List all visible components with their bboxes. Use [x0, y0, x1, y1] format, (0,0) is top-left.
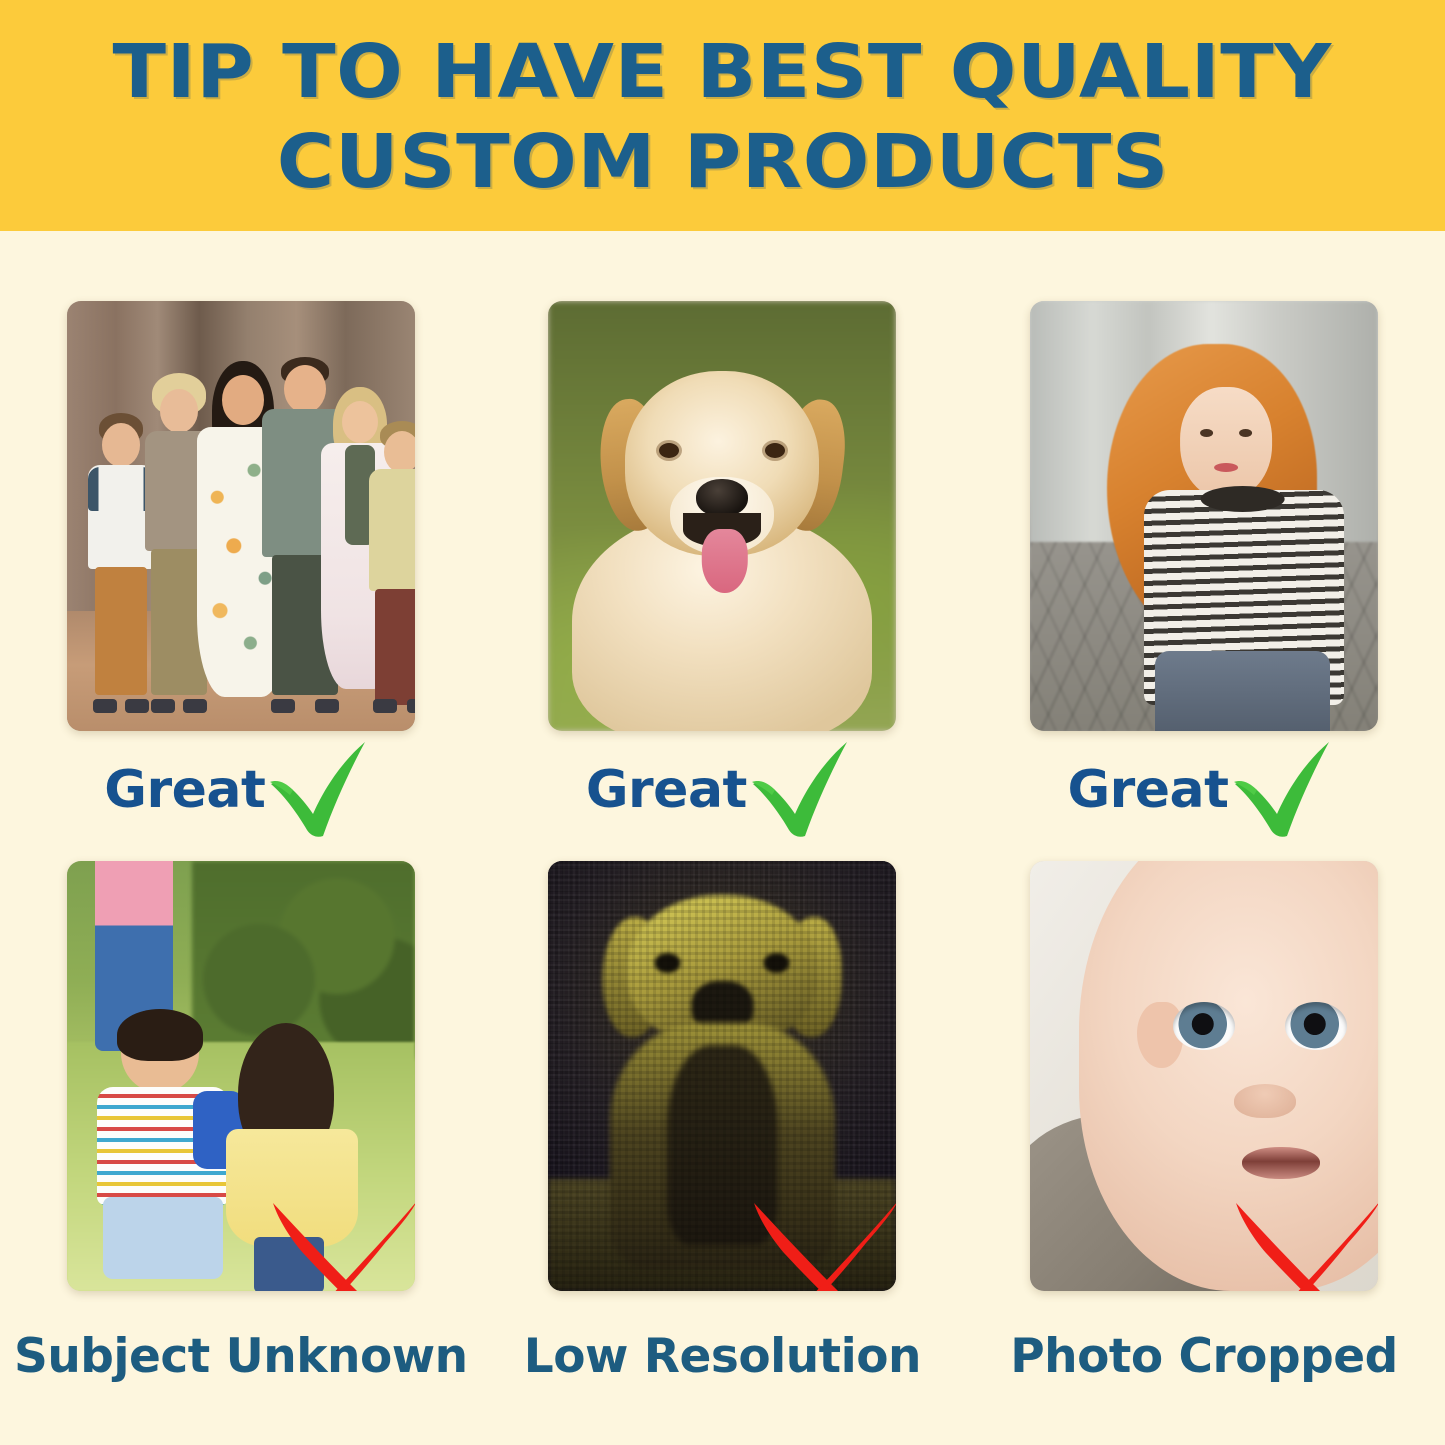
example-card-golden-retriever: Great — [482, 301, 964, 861]
header-banner: TIP TO HAVE BEST QUALITY CUSTOM PRODUCTS — [0, 0, 1445, 231]
check-icon — [1229, 740, 1341, 840]
caption-red-haired-woman: Great — [989, 747, 1419, 833]
check-icon — [747, 740, 859, 840]
caption-family-portrait: Great — [26, 747, 456, 833]
photo-red-haired-woman — [1030, 301, 1378, 731]
photo-kids-playing — [67, 861, 415, 1291]
example-card-kids-playing: Subject Unknown — [0, 861, 482, 1421]
caption-low-res-dog: Low Resolution — [507, 1313, 937, 1399]
label-low-res-dog: Low Resolution — [524, 1329, 921, 1384]
examples-grid: Great — [0, 231, 1445, 1445]
label-family-portrait: Great — [104, 760, 265, 820]
photo-golden-retriever — [548, 301, 896, 731]
check-icon — [265, 740, 377, 840]
example-card-low-res-dog: Low Resolution — [482, 861, 964, 1421]
photo-low-res-dog — [548, 861, 896, 1291]
banner-title-line-2: CUSTOM PRODUCTS — [276, 125, 1168, 200]
caption-kids-playing: Subject Unknown — [26, 1313, 456, 1399]
example-card-red-haired-woman: Great — [963, 301, 1445, 861]
photo-cropped-baby — [1030, 861, 1378, 1291]
bad-examples-row: Subject Unknown — [0, 861, 1445, 1421]
example-card-cropped-baby: Photo Cropped — [963, 861, 1445, 1421]
caption-cropped-baby: Photo Cropped — [989, 1313, 1419, 1399]
infographic-page: TIP TO HAVE BEST QUALITY CUSTOM PRODUCTS — [0, 0, 1445, 1445]
caption-golden-retriever: Great — [507, 747, 937, 833]
photo-family-portrait — [67, 301, 415, 731]
label-kids-playing: Subject Unknown — [14, 1329, 468, 1384]
example-card-family-portrait: Great — [0, 301, 482, 861]
label-red-haired-woman: Great — [1067, 760, 1228, 820]
label-golden-retriever: Great — [586, 760, 747, 820]
label-cropped-baby: Photo Cropped — [1010, 1329, 1398, 1384]
banner-title-line-1: TIP TO HAVE BEST QUALITY — [113, 35, 1332, 110]
good-examples-row: Great — [0, 301, 1445, 861]
